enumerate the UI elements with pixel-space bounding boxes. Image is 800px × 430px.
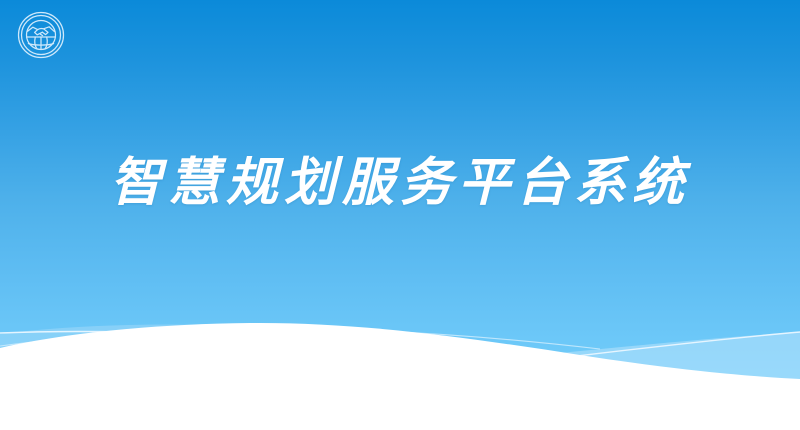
emblem-handshake-thumb [40,34,42,35]
emblem-meridian-right [45,37,47,49]
wave-foreground-white [0,323,800,430]
page-title: 智慧规划服务平台系统 [0,148,800,218]
handshake-globe-emblem-icon [16,10,66,60]
wave-decoration-group [0,300,800,430]
emblem-meridian-left [35,37,37,49]
splash-screen: 智慧规划服务平台系统 [0,0,800,430]
